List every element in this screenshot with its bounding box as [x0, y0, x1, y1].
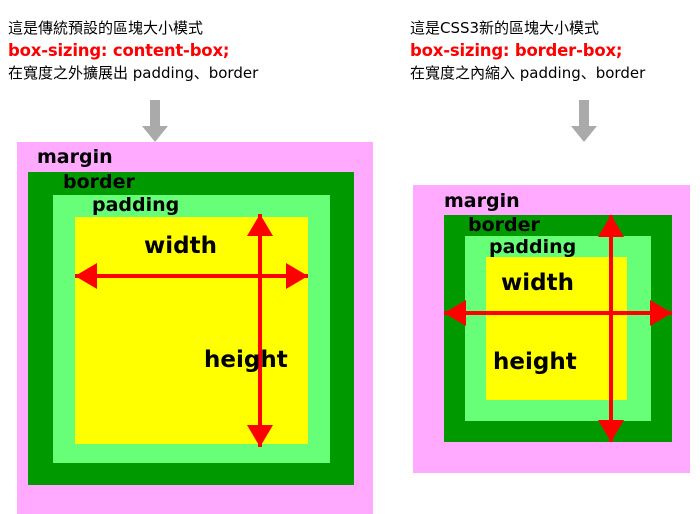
width-label: width: [501, 270, 574, 296]
height-arrow-top-head: [598, 215, 624, 237]
width-arrow-left-head: [444, 300, 466, 326]
margin-label: margin: [444, 190, 520, 212]
right-caption-block: 這是CSS3新的區塊大小模式 box-sizing: border-box; 在…: [410, 18, 645, 84]
border-label: border: [468, 214, 540, 236]
left-caption-line-1: 這是傳統預設的區塊大小模式: [8, 18, 258, 39]
padding-label: padding: [489, 236, 576, 258]
width-measure-arrow: [444, 298, 672, 328]
down-arrow-icon: [571, 100, 597, 142]
height-arrow-top-head: [247, 214, 273, 236]
height-arrow-bottom-head: [247, 425, 273, 447]
left-caption-block: 這是傳統預設的區塊大小模式 box-sizing: content-box; 在…: [8, 18, 258, 84]
left-caption-code: box-sizing: content-box;: [8, 39, 258, 62]
right-caption-line-1: 這是CSS3新的區塊大小模式: [410, 18, 645, 39]
down-arrow-shaft: [150, 100, 160, 127]
down-arrow-head: [142, 126, 168, 142]
height-arrow-bottom-head: [598, 420, 624, 442]
height-arrow-line: [258, 214, 262, 447]
left-caption-line-3: 在寬度之外擴展出 padding、border: [8, 63, 258, 84]
border-box-diagram: margin border padding width height: [413, 185, 690, 473]
border-label: border: [63, 171, 135, 193]
height-measure-arrow: [596, 215, 626, 442]
down-arrow-shaft: [579, 100, 589, 127]
width-arrow-right-head: [286, 263, 308, 289]
right-caption-line-3: 在寬度之內縮入 padding、border: [410, 63, 645, 84]
width-label: width: [144, 233, 217, 259]
width-arrow-left-head: [75, 263, 97, 289]
width-arrow-line: [444, 311, 672, 315]
down-arrow-head: [571, 126, 597, 142]
height-label: height: [204, 347, 288, 373]
width-arrow-right-head: [650, 300, 672, 326]
padding-label: padding: [92, 194, 179, 216]
content-box-diagram: margin border padding width height: [17, 142, 373, 514]
right-caption-code: box-sizing: border-box;: [410, 39, 645, 62]
margin-label: margin: [37, 146, 113, 168]
height-measure-arrow: [245, 214, 275, 447]
height-arrow-line: [609, 215, 613, 442]
height-label: height: [493, 349, 577, 375]
down-arrow-icon: [142, 100, 168, 142]
